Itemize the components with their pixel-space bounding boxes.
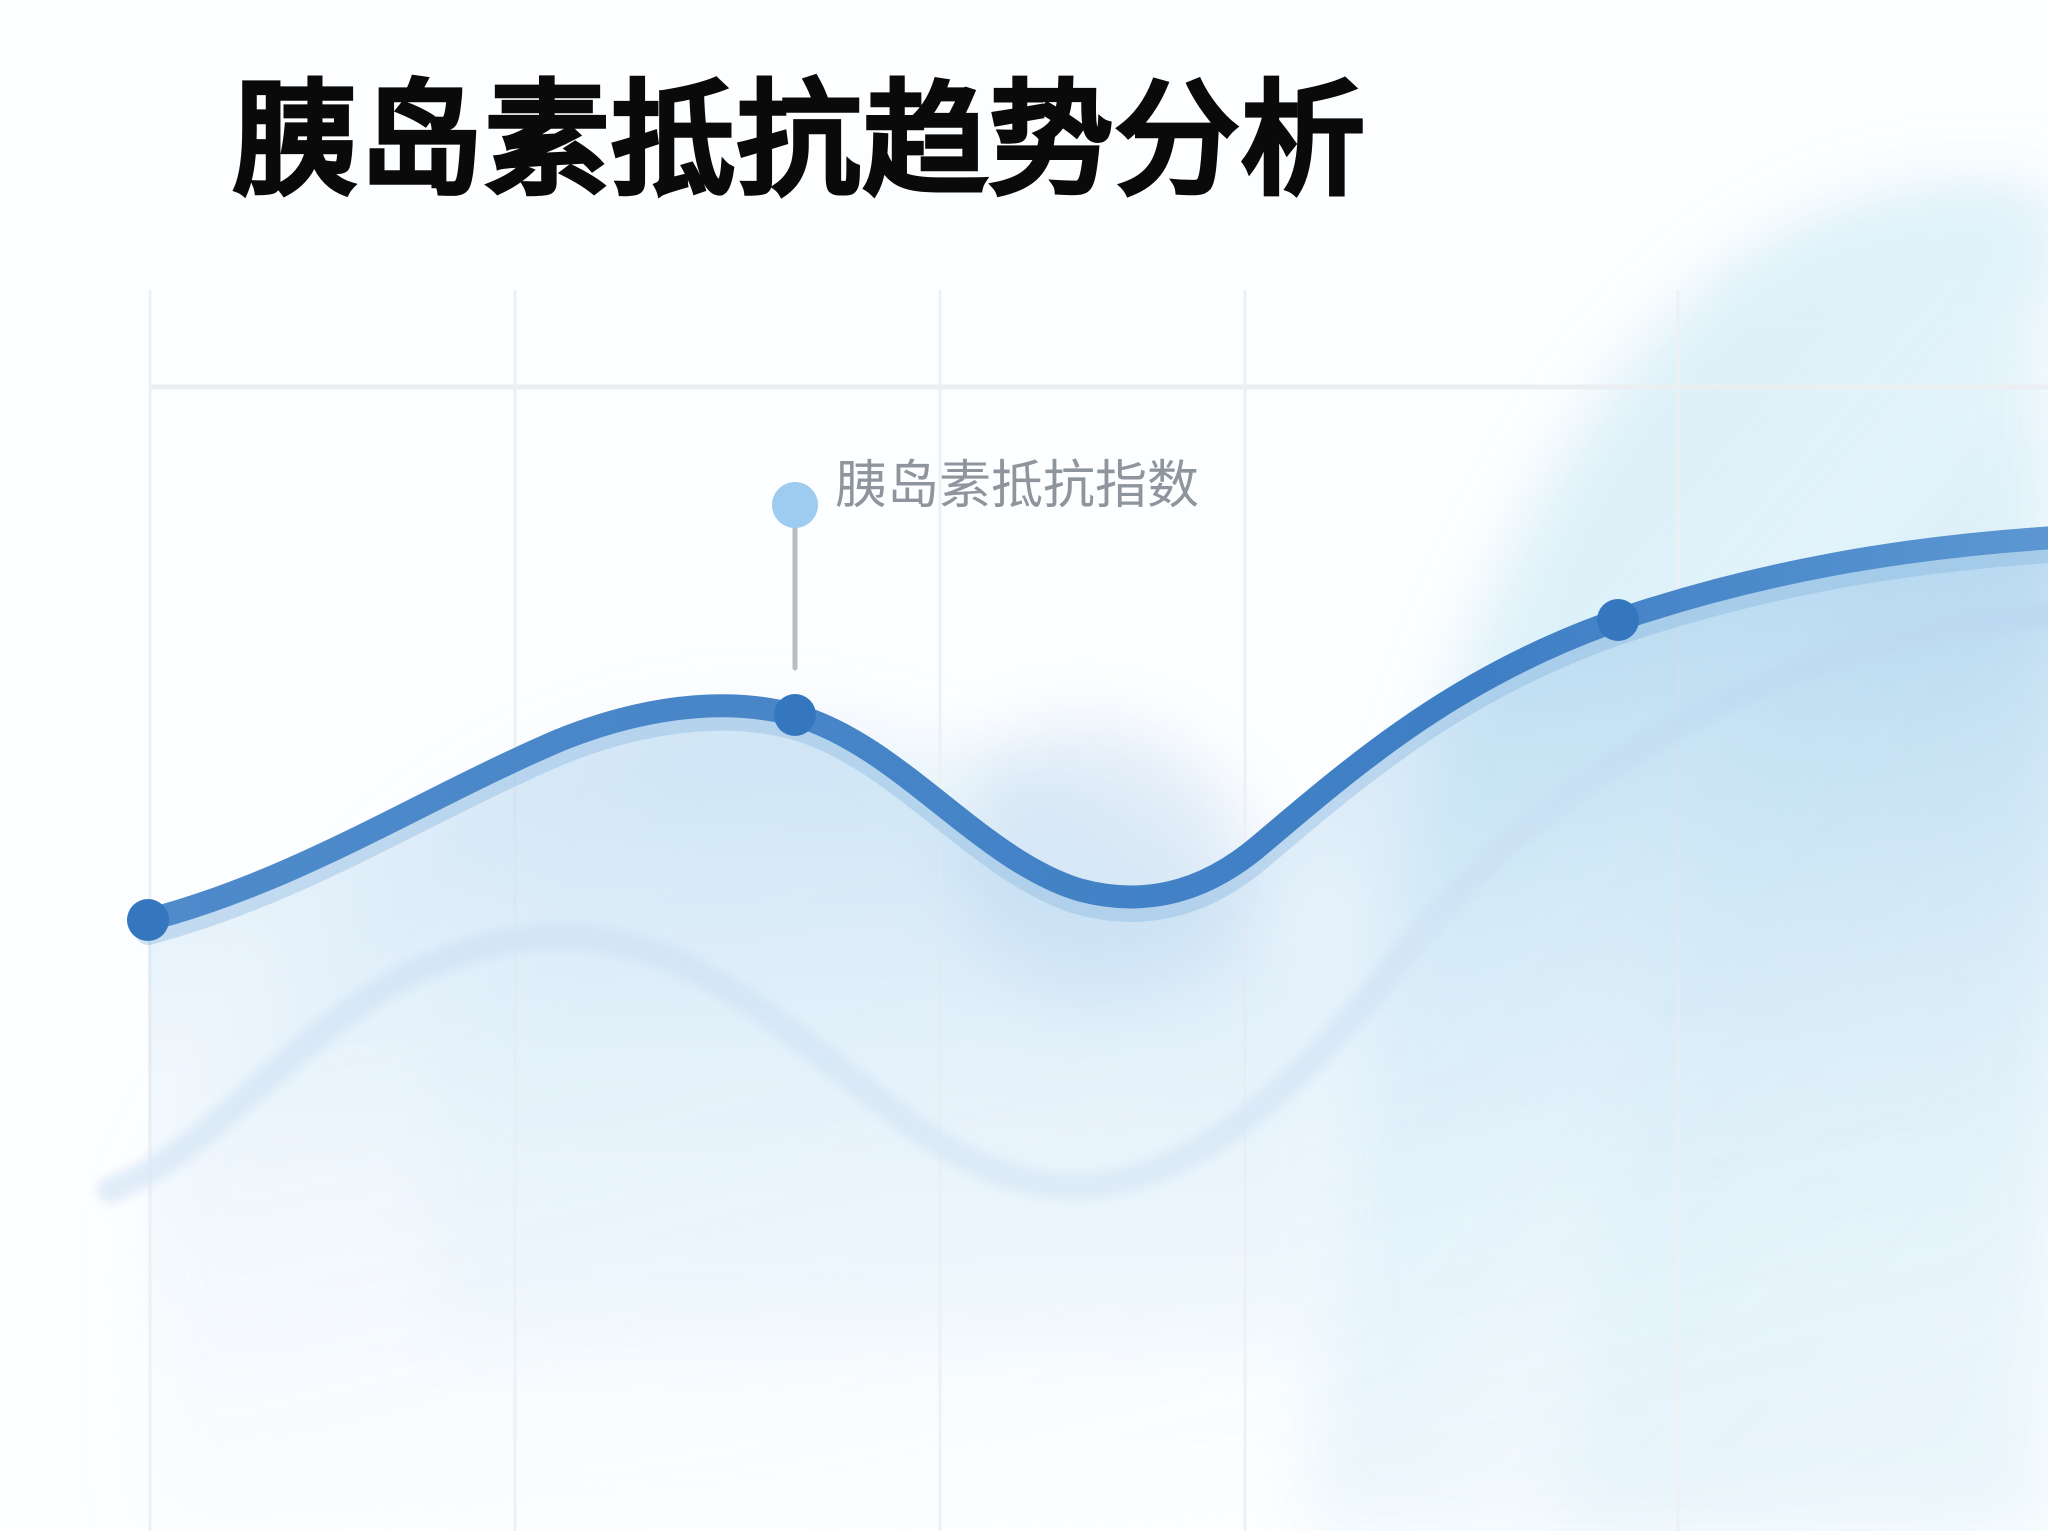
data-point-middle: [774, 694, 816, 736]
legend-marker-dot: [772, 482, 818, 528]
insulin-resistance-trend-chart: [0, 0, 2048, 1531]
chart-canvas: 胰岛素抵抗趋势分析 胰岛素抵抗指数: [0, 0, 2048, 1531]
data-point-end: [1597, 599, 1639, 641]
main-series-area: [148, 538, 2048, 1531]
legend-callout: [772, 482, 818, 668]
area-under-curve: [148, 538, 2048, 1531]
data-point-start: [127, 899, 169, 941]
